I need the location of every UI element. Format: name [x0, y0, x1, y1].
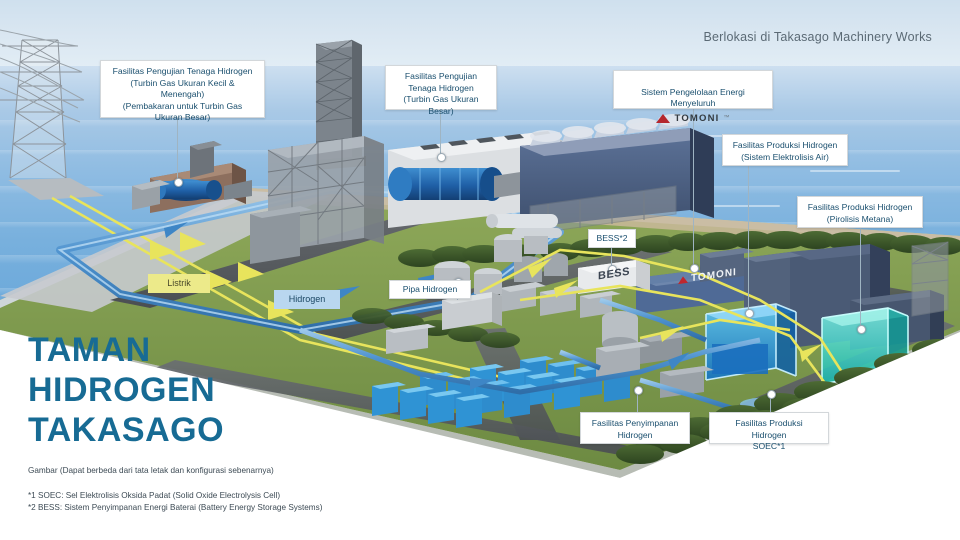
label-bess[interactable]: BESS*2 — [588, 229, 636, 248]
footnote-bess: *2 BESS: Sistem Penyimpanan Energi Bater… — [28, 502, 322, 514]
leader-line-pyrolysis — [860, 228, 861, 328]
right-steel-frame — [912, 242, 948, 316]
leader-line-electrolysis — [748, 166, 749, 312]
label-ems[interactable]: Sistem Pengelolaan Energi Menyeluruh TOM… — [613, 70, 773, 109]
page-header: Berlokasi di Takasago Machinery Works — [703, 30, 932, 44]
figure-caption: Gambar (Dapat berbeda dari tata letak da… — [28, 466, 274, 475]
label-gt-small-medium[interactable]: Fasilitas Pengujian Tenaga Hidrogen (Tur… — [100, 60, 265, 118]
leader-line-gt-small-medium — [177, 118, 178, 181]
legend-hydrogen[interactable]: Hidrogen — [274, 290, 340, 309]
tomoni-triangle-icon — [678, 276, 688, 284]
label-ems-text: Sistem Pengelolaan Energi Menyeluruh — [641, 87, 745, 109]
page-title: TAMAN HIDROGEN TAKASAGO — [28, 330, 224, 450]
label-gt-large[interactable]: Fasilitas Pengujian Tenaga Hidrogen (Tur… — [385, 65, 497, 110]
tomoni-logo: TOMONI ™ — [656, 113, 729, 125]
page-title-line1: TAMAN — [28, 330, 224, 370]
leader-line-ems — [693, 109, 694, 267]
leader-dot-pyrolysis — [857, 325, 866, 334]
leader-dot-electrolysis — [745, 309, 754, 318]
footnotes: *1 SOEC: Sel Elektrolisis Oksida Padat (… — [28, 490, 322, 513]
transmission-tower — [0, 30, 84, 178]
label-storage[interactable]: Fasilitas Penyimpanan Hidrogen — [580, 412, 690, 444]
footnote-soec: *1 SOEC: Sel Elektrolisis Oksida Padat (… — [28, 490, 322, 502]
tomoni-trademark-icon: ™ — [724, 113, 730, 125]
legend-electricity[interactable]: Listrik — [148, 274, 210, 293]
page-title-line2: HIDROGEN — [28, 370, 224, 410]
page-title-line3: TAKASAGO — [28, 410, 224, 450]
illustration-canvas: Berlokasi di Takasago Machinery Works Fa… — [0, 0, 960, 540]
label-soec[interactable]: Fasilitas Produksi Hidrogen SOEC*1 — [709, 412, 829, 444]
legend-pipe[interactable]: Pipa Hidrogen — [389, 280, 471, 299]
tomoni-wordmark: TOMONI — [674, 113, 719, 125]
tomoni-triangle-icon — [656, 114, 670, 123]
leader-dot-soec — [767, 390, 776, 399]
tower-foundation — [8, 178, 104, 200]
leader-dot-gt-large — [437, 153, 446, 162]
label-electrolysis[interactable]: Fasilitas Produksi Hidrogen (Sistem Elek… — [722, 134, 848, 166]
leader-dot-gt-small-medium — [174, 178, 183, 187]
leader-dot-storage — [634, 386, 643, 395]
label-pyrolysis[interactable]: Fasilitas Produksi Hidrogen (Pirolisis M… — [797, 196, 923, 228]
